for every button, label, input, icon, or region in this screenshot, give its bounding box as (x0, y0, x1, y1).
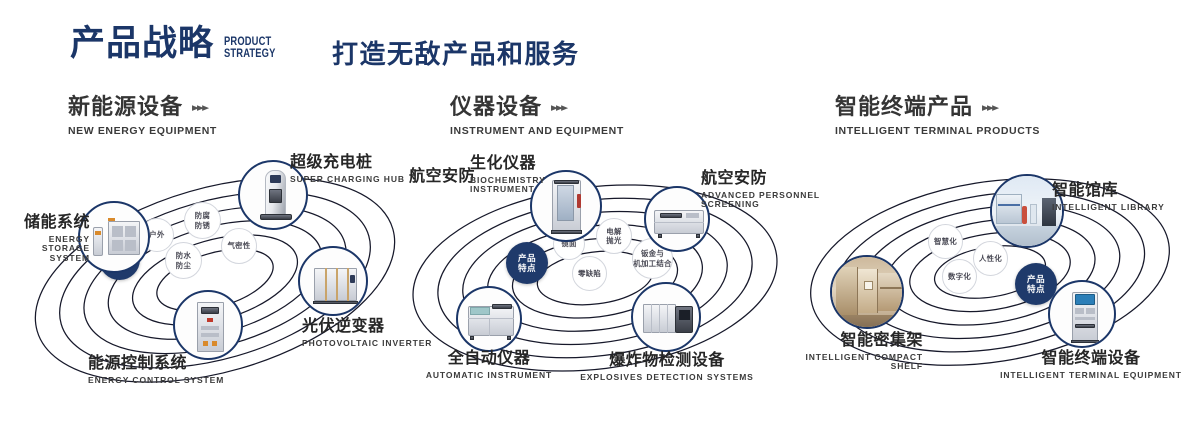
product-node-automatic-instrument[interactable] (456, 286, 522, 352)
product-label-automatic-instrument: 全自动仪器 AUTOMATIC INSTRUMENT (409, 350, 569, 380)
section-title-en: NEW ENERGY EQUIPMENT (68, 125, 217, 137)
feature-bubble: 数字化 (942, 259, 977, 294)
section-title-cn: 智能终端产品 (835, 96, 973, 118)
product-label-intelligent-terminal-equipment: 智能终端设备 INTELLIGENT TERMINAL EQUIPMENT (996, 350, 1186, 380)
page-title: 产品战略 (70, 26, 214, 61)
section-title-cn: 新能源设备 (68, 96, 183, 118)
chevron-right-icon: ▸▸▸ (551, 101, 566, 112)
poster-header: 产品战略 PRODUCT STRATEGY (70, 26, 290, 61)
product-label-super-charging-hub: 超级充电桩 SUPER CHARGING HUB (290, 154, 420, 184)
feature-bubble: 零缺陷 (572, 256, 607, 291)
feature-bubble: 人性化 (973, 241, 1008, 276)
feature-bubble: 电解 抛光 (596, 218, 632, 254)
section-title-en: INSTRUMENT AND EQUIPMENT (450, 125, 624, 137)
diagram-cluster-new-energy: 防腐 防锈 户外 气密性 防水 防尘 产品 特点 储能系统 ENERGY STO… (20, 150, 420, 410)
section-title-intelligent-terminal: 智能终端产品 ▸▸▸ INTELLIGENT TERMINAL PRODUCTS (835, 96, 1040, 137)
product-label-aviation-security-left: 航空安防 (403, 168, 475, 189)
feature-bubble: 智慧化 (928, 224, 963, 259)
chevron-right-icon: ▸▸▸ (192, 101, 207, 112)
product-label-energy-storage-system: 储能系统 ENERGY STORAGE SYSTEM (2, 214, 90, 263)
product-label-explosives-detection-systems: 爆炸物检测设备 EXPLOSIVES DETECTION SYSTEMS (577, 352, 757, 382)
diagram-cluster-instrument: 镜面 电解 抛光 钣金与 机加工结合 零缺陷 产品 特点 航空安防 生化仪器 B… (405, 150, 805, 410)
page-subtitle: 打造无敌产品和服务 (332, 34, 580, 71)
section-title-en: INTELLIGENT TERMINAL PRODUCTS (835, 125, 1040, 137)
product-node-intelligent-terminal-equipment[interactable] (1048, 280, 1116, 348)
feature-bubble: 防水 防尘 (165, 242, 202, 279)
product-label-intelligent-compact-shelf: 智能密集架 INTELLIGENT COMPACT SHELF (748, 332, 923, 372)
chevron-right-icon: ▸▸▸ (982, 101, 997, 112)
product-label-biochemistry-instrument: 生化仪器 BIOCHEMISTRY INSTRUMENT (470, 155, 590, 195)
product-node-energy-control-system[interactable] (173, 290, 243, 360)
page-title-en: PRODUCT STRATEGY (224, 35, 276, 59)
product-node-intelligent-compact-shelf[interactable] (830, 255, 904, 329)
diagram-cluster-intelligent-terminal: 智慧化 人性化 数字化 产品 特点 智能馆库 INTELLIGENT LIBRA… (790, 150, 1190, 410)
section-title-new-energy: 新能源设备 ▸▸▸ NEW ENERGY EQUIPMENT (68, 96, 217, 137)
feature-bubble: 气密性 (221, 228, 257, 264)
center-badge: 产品 特点 (506, 242, 548, 284)
section-title-instrument: 仪器设备 ▸▸▸ INSTRUMENT AND EQUIPMENT (450, 96, 624, 137)
product-node-explosives-detection-systems[interactable] (631, 282, 701, 352)
section-title-cn: 仪器设备 (450, 96, 542, 118)
feature-bubble: 防腐 防锈 (184, 202, 221, 239)
product-node-photovoltaic-inverter[interactable] (298, 246, 368, 316)
product-label-energy-control-system: 能源控制系统 ENERGY CONTROL SYSTEM (88, 355, 263, 385)
poster-canvas: 产品战略 PRODUCT STRATEGY 打造无敌产品和服务 新能源设备 ▸▸… (0, 0, 1200, 422)
product-label-intelligent-library: 智能馆库 INTELLIGENT LIBRARY (1052, 182, 1187, 212)
